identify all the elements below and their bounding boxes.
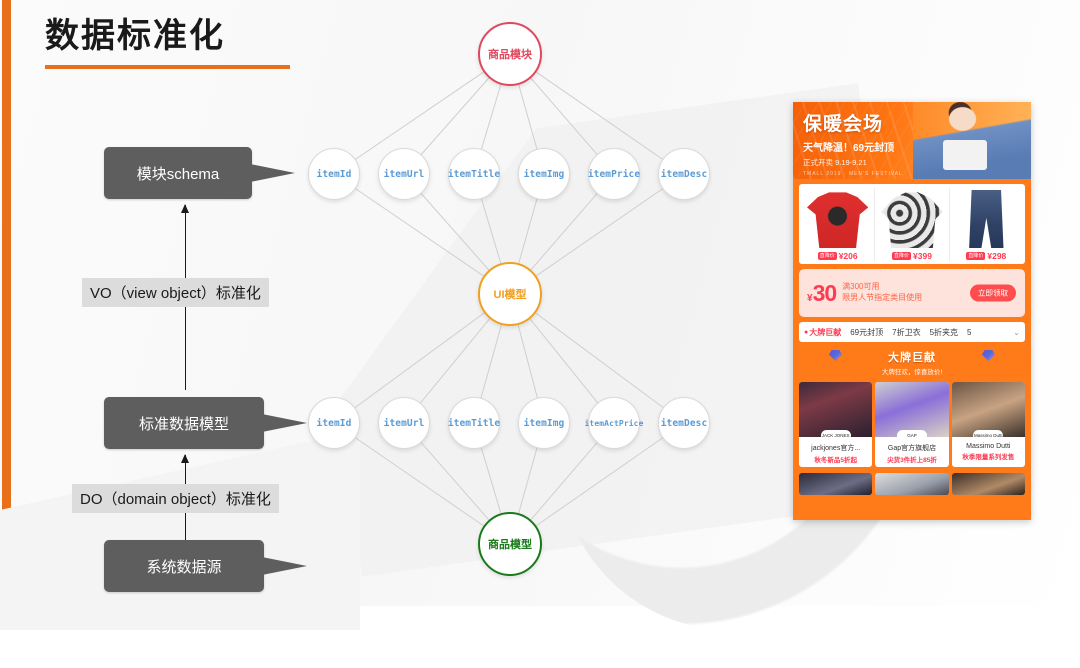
brand-row: JACK JONES jackjones官方... 秋冬新品5折起 GAP Ga…	[799, 382, 1025, 467]
product-price: ¥298	[987, 251, 1006, 261]
location-pin-icon: ●	[804, 329, 808, 336]
hub-node-product-module[interactable]: 商品模块	[478, 22, 542, 86]
tab-0[interactable]: ● 大牌巨献	[804, 327, 841, 338]
product-price-line: 直降价 ¥206	[801, 251, 874, 261]
attr-node-bottom-4[interactable]: itemActPrice	[588, 397, 640, 449]
attr-node-label: itemDesc	[661, 169, 708, 180]
brand-card-0[interactable]: JACK JONES jackjones官方... 秋冬新品5折起	[799, 382, 872, 467]
section-header: 大牌巨献 大牌狂欢，惊喜放价!	[793, 349, 1031, 376]
promo-banner[interactable]: 保暖会场 天气降温！69元封顶 正式开卖 9.19-9.21 TMALL 201…	[793, 102, 1031, 179]
brand-image	[799, 473, 872, 495]
category-tabbar: ● 大牌巨献 69元封顶 7折卫衣 5折夹克 5 ⌄	[799, 322, 1025, 342]
attr-node-top-2[interactable]: itemTitle	[448, 148, 500, 200]
coupon-value: 30	[813, 280, 837, 307]
brand-card-2[interactable]: Massimo Dutti Massimo Dutti 秋季限量系列发售	[952, 382, 1025, 467]
attr-node-label: itemDesc	[661, 418, 708, 429]
brand-image	[952, 473, 1025, 495]
banner-time: 正式开卖 9.19-9.21	[793, 154, 1031, 168]
attr-node-label: itemTitle	[448, 169, 500, 180]
brand-image	[799, 382, 872, 437]
coupon-amount: ¥ 30	[807, 280, 836, 307]
product-tag: 直降价	[818, 252, 837, 260]
product-card-1[interactable]: 直降价 ¥399	[875, 188, 949, 261]
product-price: ¥399	[913, 251, 932, 261]
section-subheading: 大牌狂欢，惊喜放价!	[793, 366, 1031, 376]
hub-node-product-model[interactable]: 商品模型	[478, 512, 542, 576]
tab-3[interactable]: 5折夹克	[930, 327, 958, 338]
attr-node-label: itemUrl	[384, 169, 425, 180]
attr-node-bottom-2[interactable]: itemTitle	[448, 397, 500, 449]
attr-node-top-0[interactable]: itemId	[308, 148, 360, 200]
brand-name: Gap官方旗舰店	[875, 441, 948, 453]
attr-node-label: itemUrl	[384, 418, 425, 429]
brand-card-4[interactable]	[875, 473, 948, 495]
brand-logo: Massimo Dutti	[973, 430, 1003, 441]
brand-name: jackjones官方...	[799, 441, 872, 453]
product-price-line: 直降价 ¥298	[950, 251, 1023, 261]
tab-2[interactable]: 7折卫衣	[892, 327, 920, 338]
node-graph: 商品模块 UI模型 商品模型 itemId itemUrl itemTitle …	[0, 0, 760, 606]
attr-node-top-4[interactable]: itemPrice	[588, 148, 640, 200]
banner-title: 保暖会场	[793, 102, 1031, 136]
coupon-desc-line-2: 限男人节指定类目使用	[842, 293, 922, 304]
hub-node-ui-model[interactable]: UI模型	[478, 262, 542, 326]
product-card-0[interactable]: 直降价 ¥206	[801, 188, 875, 261]
product-price: ¥206	[839, 251, 858, 261]
brand-promo: 秋季限量系列发售	[952, 450, 1025, 464]
brand-logo: JACK JONES	[821, 430, 851, 441]
brand-card-1[interactable]: GAP Gap官方旗舰店 尖货3件折上85折	[875, 382, 948, 467]
tab-4[interactable]: 5	[967, 328, 971, 337]
coupon-card[interactable]: ¥ 30 满300可用 限男人节指定类目使用 立即领取	[799, 269, 1025, 317]
hub-node-label: 商品模型	[488, 536, 532, 552]
attr-node-label: itemTitle	[448, 418, 500, 429]
tab-1[interactable]: 69元封顶	[850, 327, 883, 338]
brand-logo: GAP	[897, 430, 927, 441]
banner-footnote: TMALL 2019 · MEN'S FESTIVAL	[803, 171, 903, 177]
hub-node-label: 商品模块	[488, 46, 532, 62]
tab-label: 大牌巨献	[809, 327, 841, 338]
brand-card-5[interactable]	[952, 473, 1025, 495]
attr-node-label: itemActPrice	[585, 419, 644, 428]
attr-node-bottom-5[interactable]: itemDesc	[658, 397, 710, 449]
attr-node-label: itemId	[317, 169, 352, 180]
banner-subtitle: 天气降温！69元封顶	[793, 136, 1031, 154]
brand-row-partial	[799, 473, 1025, 495]
coupon-claim-button[interactable]: 立即领取	[970, 285, 1016, 302]
hub-node-label: UI模型	[494, 286, 527, 302]
attr-node-top-1[interactable]: itemUrl	[378, 148, 430, 200]
brand-promo: 尖货3件折上85折	[875, 453, 948, 467]
attr-node-top-3[interactable]: itemImg	[518, 148, 570, 200]
product-tag: 直降价	[892, 252, 911, 260]
product-image	[881, 190, 942, 248]
attr-node-top-5[interactable]: itemDesc	[658, 148, 710, 200]
product-price-line: 直降价 ¥399	[875, 251, 948, 261]
attr-node-bottom-0[interactable]: itemId	[308, 397, 360, 449]
coupon-description: 满300可用 限男人节指定类目使用	[842, 282, 922, 304]
product-image	[807, 190, 868, 248]
brand-image	[875, 473, 948, 495]
attr-node-bottom-3[interactable]: itemImg	[518, 397, 570, 449]
product-card-2[interactable]: 直降价 ¥298	[950, 188, 1023, 261]
brand-name: Massimo Dutti	[952, 441, 1025, 450]
coupon-desc-line-1: 满300可用	[842, 282, 922, 293]
attr-node-label: itemId	[317, 418, 352, 429]
attr-node-label: itemImg	[524, 169, 565, 180]
brand-promo: 秋冬新品5折起	[799, 453, 872, 467]
attr-node-bottom-1[interactable]: itemUrl	[378, 397, 430, 449]
slide-canvas: 数据标准化 模块schema VO（view object）标准化 标准数据模型…	[0, 0, 1080, 606]
mobile-screenshot-panel: 保暖会场 天气降温！69元封顶 正式开卖 9.19-9.21 TMALL 201…	[793, 102, 1031, 520]
attr-node-label: itemImg	[524, 418, 565, 429]
product-tag: 直降价	[966, 252, 985, 260]
brand-image	[875, 382, 948, 437]
graph-edges	[0, 0, 760, 606]
attr-node-label: itemPrice	[588, 169, 640, 180]
brand-card-3[interactable]	[799, 473, 872, 495]
brand-image	[952, 382, 1025, 437]
product-image	[956, 190, 1017, 248]
product-row: 直降价 ¥206 直降价 ¥399 直降价 ¥298	[799, 184, 1025, 264]
chevron-down-icon[interactable]: ⌄	[1013, 328, 1020, 337]
section-heading: 大牌巨献	[793, 349, 1031, 365]
